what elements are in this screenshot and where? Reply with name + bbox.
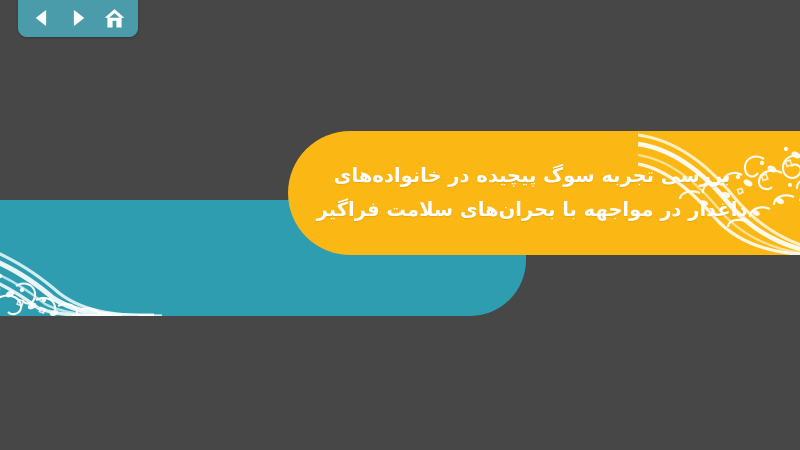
page-title-line-1: بررسی تجربه سوگ پیچیده در خانواده‌های: [334, 161, 731, 191]
triangle-right-icon: [67, 7, 89, 29]
arabesque-ornament-icon: [0, 200, 200, 316]
page-title: بررسی تجربه سوگ پیچیده در خانواده‌های دا…: [312, 131, 752, 255]
home-icon: [103, 7, 126, 30]
presentation-slide: بررسی تجربه سوگ پیچیده در خانواده‌های دا…: [0, 0, 800, 450]
title-banner: بررسی تجربه سوگ پیچیده در خانواده‌های دا…: [288, 131, 800, 255]
previous-slide-button[interactable]: [29, 6, 55, 30]
next-slide-button[interactable]: [65, 6, 91, 30]
slide-navigation-bar: [18, 0, 138, 37]
page-title-line-2: داغدار در مواجهه با بحران‌های سلامت فراگ…: [317, 195, 748, 225]
home-button[interactable]: [101, 6, 127, 30]
triangle-left-icon: [31, 7, 53, 29]
